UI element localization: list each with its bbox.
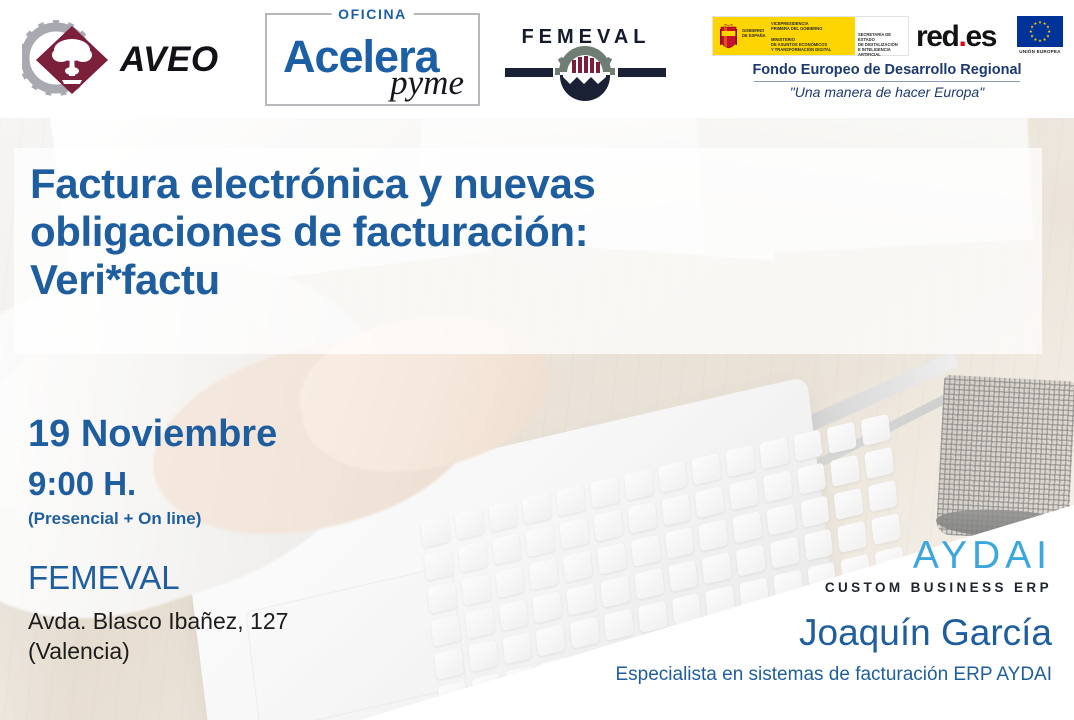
femeval-logo: FEMEVAL [505, 18, 665, 103]
gov-label-ministerio-2: MINISTERIO DE ASUNTOS ECONÓMICOS Y TRANS… [771, 37, 831, 52]
femeval-bar-left [505, 68, 553, 77]
aveo-tree-gear-icon [22, 14, 114, 102]
page-title: Factura electrónica y nuevas obligacione… [30, 160, 1030, 304]
event-address: Avda. Blasco Ibañez, 127 (Valencia) [28, 606, 458, 667]
feder-divider [754, 81, 1020, 82]
acelera-pyme-wordmark: pyme [390, 63, 464, 103]
femeval-emblem-icon [553, 46, 617, 104]
spain-coat-of-arms-icon [719, 23, 738, 49]
aveo-wordmark: AVEO [120, 40, 219, 80]
event-info-block: 19 Noviembre 9:00 H. (Presencial + On li… [28, 415, 458, 667]
sponsor-header-bar: AVEO OFICINA Acelera pyme FEMEVAL [0, 0, 1074, 118]
event-venue: FEMEVAL [28, 561, 458, 594]
aveo-logo: AVEO [22, 12, 212, 104]
redes-logo: red.es [916, 20, 996, 54]
event-mode: (Presencial + On line) [28, 509, 458, 529]
speaker-name: Joaquín García [799, 614, 1052, 651]
aydai-wordmark: AYDAI [825, 536, 1052, 575]
european-union-flag-icon [1017, 16, 1063, 47]
redes-pre: red [916, 20, 959, 53]
feder-title: Fondo Europeo de Desarrollo Regional [712, 62, 1062, 78]
aydai-tagline: CUSTOM BUSINESS ERP [825, 580, 1052, 595]
feder-subtitle: "Una manera de hacer Europa" [712, 84, 1062, 100]
event-time: 9:00 H. [28, 467, 458, 500]
femeval-bar-right [618, 68, 666, 77]
poster-canvas: Factura electrónica y nuevas obligacione… [0, 0, 1074, 720]
eu-label: UNIÓN EUROPEA [1012, 49, 1068, 54]
acelera-oficina-label: OFICINA [331, 6, 414, 22]
gobierno-de-espana-logo: GOBIERNO DE ESPAÑA VICEPRESIDENCIA PRIME… [712, 16, 909, 56]
speaker-role: Especialista en sistemas de facturación … [615, 664, 1052, 686]
acelera-pyme-logo: OFICINA Acelera pyme [265, 13, 480, 106]
gov-white-panel: SECRETARÍA DE ESTADO DE DIGITALIZACIÓN E… [855, 17, 908, 55]
gov-label-secretaria: SECRETARÍA DE ESTADO DE DIGITALIZACIÓN E… [858, 32, 908, 58]
aydai-logo: AYDAI CUSTOM BUSINESS ERP [825, 536, 1052, 595]
gov-label-ministerio: VICEPRESIDENCIA PRIMERA DEL GOBIERNO [771, 21, 822, 31]
redes-post: es [965, 20, 996, 53]
gov-label-gobierno: GOBIERNO DE ESPAÑA [742, 28, 766, 38]
event-date: 19 Noviembre [28, 415, 458, 455]
eu-funding-logos: GOBIERNO DE ESPAÑA VICEPRESIDENCIA PRIME… [712, 10, 1062, 110]
gov-yellow-panel: GOBIERNO DE ESPAÑA VICEPRESIDENCIA PRIME… [713, 17, 855, 55]
